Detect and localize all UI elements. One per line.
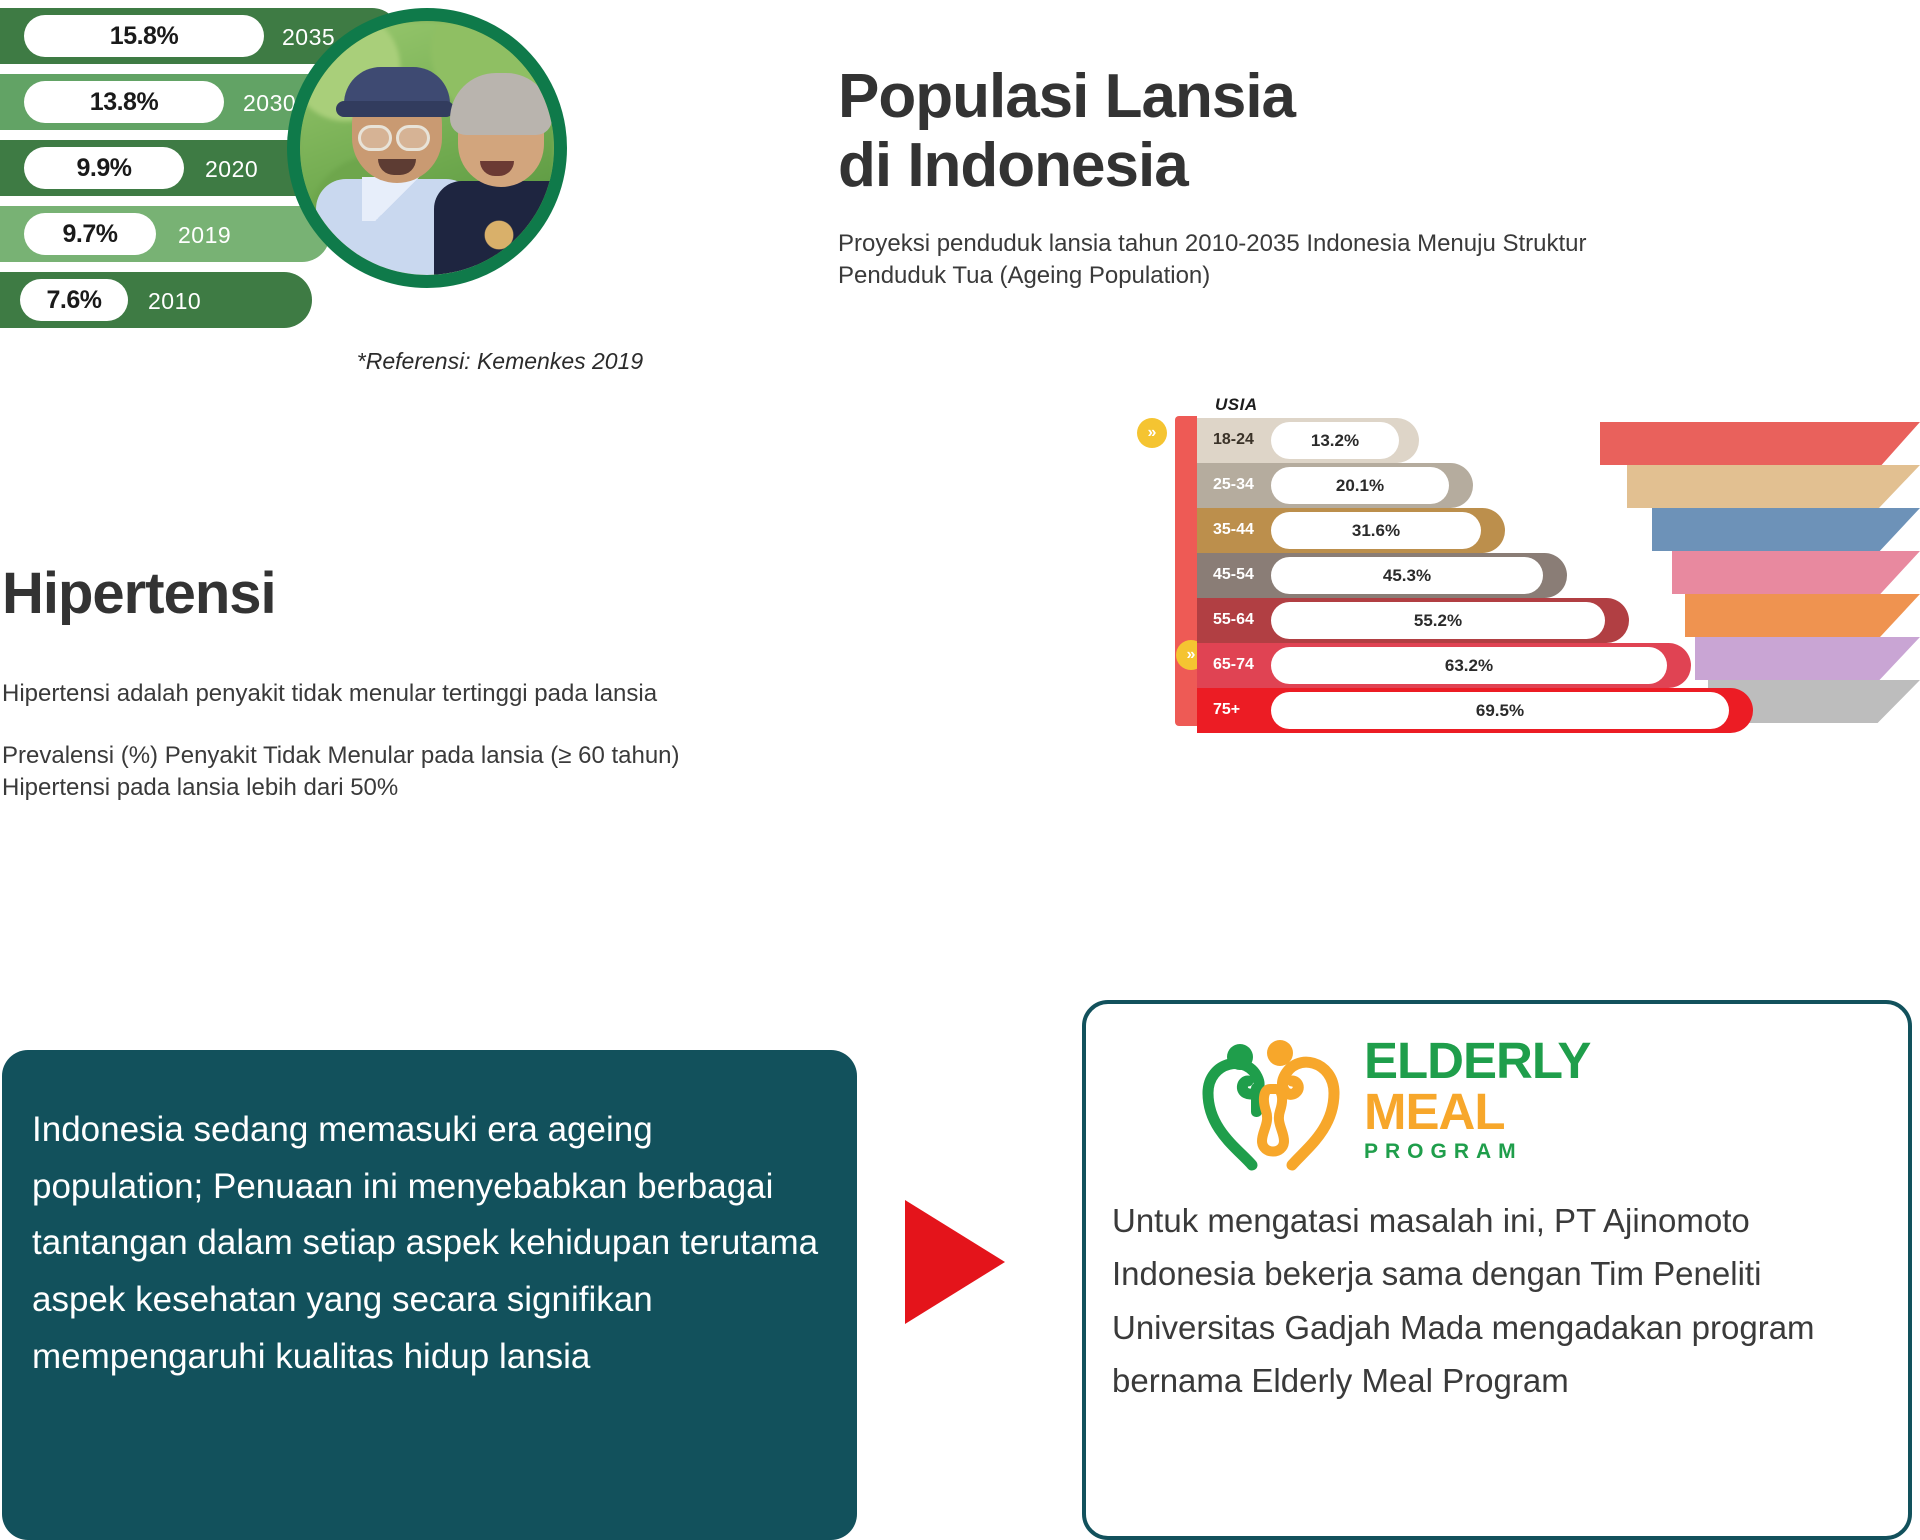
logo-text-program: PROGRAM [1364, 1137, 1590, 1166]
disease-band-diabetes [1672, 551, 1920, 594]
age-row-75-plus: 75+ 69.5% [1197, 688, 1857, 733]
projection-year-2019: 2019 [178, 222, 231, 249]
program-card-text: Untuk mengatasi masalah ini, PT Ajinomot… [1112, 1194, 1882, 1408]
photo-inner [300, 21, 554, 275]
projection-row-2010: 7.6% 2010 [0, 272, 312, 328]
hipertensi-paragraph-1: Hipertensi adalah penyakit tidak menular… [2, 680, 657, 708]
age-tag-35-44: 35-44 [1213, 521, 1254, 539]
photo-man-glasses-left [358, 125, 392, 151]
red-spine-panel [1175, 416, 1197, 726]
photo-man-cap-brim [336, 101, 454, 117]
age-tag-65-74: 65-74 [1213, 656, 1254, 674]
context-card: Indonesia sedang memasuki era ageing pop… [2, 1050, 857, 1540]
disease-band-obesitas [1652, 508, 1920, 551]
projection-year-2020: 2020 [205, 156, 258, 183]
age-value-45-54: 45.3% [1271, 557, 1543, 594]
context-card-text: Indonesia sedang memasuki era ageing pop… [32, 1102, 822, 1385]
disease-age-chart: 32.5% Hipertensi 18% Penyakit Sendi 14.6… [845, 400, 1920, 740]
photo-woman-embroidery [478, 217, 548, 275]
age-value-75-plus: 69.5% [1271, 692, 1729, 729]
age-value-55-64: 55.2% [1271, 602, 1605, 639]
projection-year-2010: 2010 [148, 288, 201, 315]
age-row-18-24: 18-24 13.2% [1197, 418, 1497, 463]
chevron-glyph-bottom: » [1187, 646, 1196, 664]
projection-value-2030: 13.8% [24, 81, 224, 123]
arrow-right-icon [905, 1200, 1005, 1324]
disease-band-hipertensi [1600, 422, 1920, 465]
page-title: Populasi Lansia di Indonesia [838, 62, 1295, 201]
photo-man-glasses-right [396, 125, 430, 151]
infographic-canvas: 15.8% 2035 13.8% 2030 9.9% 2020 9.7% 201… [0, 0, 1920, 1540]
usia-header: USIA [1215, 395, 1258, 415]
age-row-45-54: 45-54 45.3% [1197, 553, 1657, 598]
elderly-meal-program-logo: ELDERLY MEAL PROGRAM [1196, 1026, 1796, 1176]
age-tag-75-plus: 75+ [1213, 701, 1240, 719]
photo-man-collar [362, 177, 432, 221]
projection-value-2035: 15.8% [24, 15, 264, 57]
logo-text-elderly: ELDERLY [1364, 1035, 1590, 1086]
projection-row-2019: 9.7% 2019 [0, 206, 330, 262]
chevron-glyph-top: » [1148, 424, 1157, 442]
projection-value-2020: 9.9% [24, 147, 184, 189]
age-row-65-74: 65-74 63.2% [1197, 643, 1797, 688]
disease-band-penyakit-sendi [1627, 465, 1920, 508]
page-title-line2: di Indonesia [838, 131, 1295, 200]
age-tag-18-24: 18-24 [1213, 431, 1254, 449]
age-row-55-64: 55-64 55.2% [1197, 598, 1727, 643]
age-row-35-44: 35-44 31.6% [1197, 508, 1587, 553]
age-value-18-24: 13.2% [1271, 422, 1399, 459]
age-value-65-74: 63.2% [1271, 647, 1667, 684]
hipertensi-paragraph-2: Prevalensi (%) Penyakit Tidak Menular pa… [2, 740, 722, 805]
age-row-25-34: 25-34 20.1% [1197, 463, 1527, 508]
age-tag-25-34: 25-34 [1213, 476, 1254, 494]
elderly-couple-photo [287, 8, 567, 288]
elderly-meal-logo-mark [1196, 1031, 1346, 1171]
hipertensi-heading: Hipertensi [2, 560, 276, 627]
age-tag-45-54: 45-54 [1213, 566, 1254, 584]
program-card: ELDERLY MEAL PROGRAM Untuk mengatasi mas… [1082, 1000, 1912, 1540]
reference-kemenkes: *Referensi: Kemenkes 2019 [290, 348, 710, 375]
projection-year-2030: 2030 [243, 90, 296, 117]
projection-value-2019: 9.7% [24, 213, 156, 255]
chevron-right-icon-top: » [1137, 418, 1167, 448]
logo-text-meal: MEAL [1364, 1086, 1590, 1137]
age-tag-55-64: 55-64 [1213, 611, 1254, 629]
age-value-25-34: 20.1% [1271, 467, 1449, 504]
age-value-35-44: 31.6% [1271, 512, 1481, 549]
logo-wordmark: ELDERLY MEAL PROGRAM [1364, 1035, 1590, 1166]
page-subtitle: Proyeksi penduduk lansia tahun 2010-2035… [838, 228, 1598, 292]
projection-value-2010: 7.6% [20, 279, 128, 321]
page-title-line1: Populasi Lansia [838, 62, 1295, 131]
